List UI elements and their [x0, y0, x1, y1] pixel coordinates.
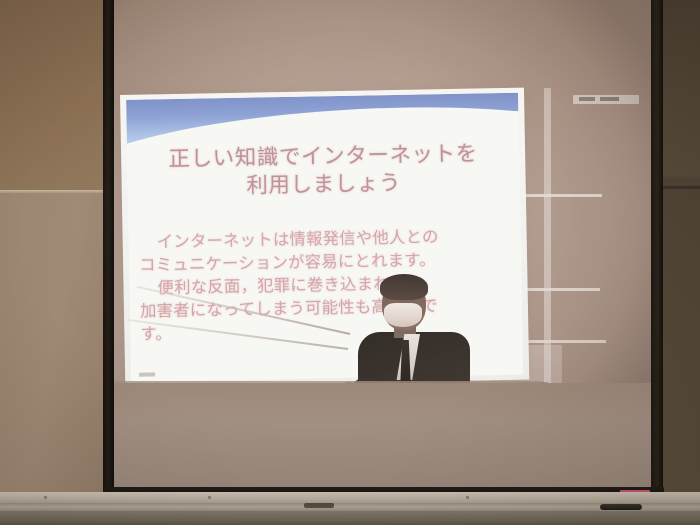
wall-right: [660, 0, 700, 500]
screen-frame-right: [651, 0, 663, 500]
projected-table-surface: [112, 383, 654, 492]
presenter-hair: [380, 274, 428, 300]
screen-frame-left: [103, 0, 114, 497]
presenter-face-mask: [384, 303, 422, 327]
whiteboard-marker[interactable]: [600, 504, 642, 510]
slide-title: 正しい知識でインターネットを 利用しましょう: [127, 139, 520, 203]
wall-left-upper: [0, 0, 108, 193]
wall-left-lower: [0, 193, 108, 493]
projected-wall-sign-text-2: [600, 97, 619, 101]
tray-notch-mid: [208, 496, 211, 499]
whiteboard-tray-shadow: [0, 511, 700, 525]
projected-wall-sign-text: [579, 97, 595, 101]
whiteboard-marker-secondary[interactable]: [304, 503, 334, 508]
tray-notch-left: [44, 496, 47, 499]
projector-photo-scene: 正しい知識でインターネットを 利用しましょう インターネットは情報発信や他人との…: [0, 0, 700, 525]
projected-wall-sign: [573, 95, 639, 104]
slide-corner-mark: [139, 372, 155, 376]
wall-right-seam: [660, 186, 700, 189]
tray-notch-right: [466, 496, 469, 499]
